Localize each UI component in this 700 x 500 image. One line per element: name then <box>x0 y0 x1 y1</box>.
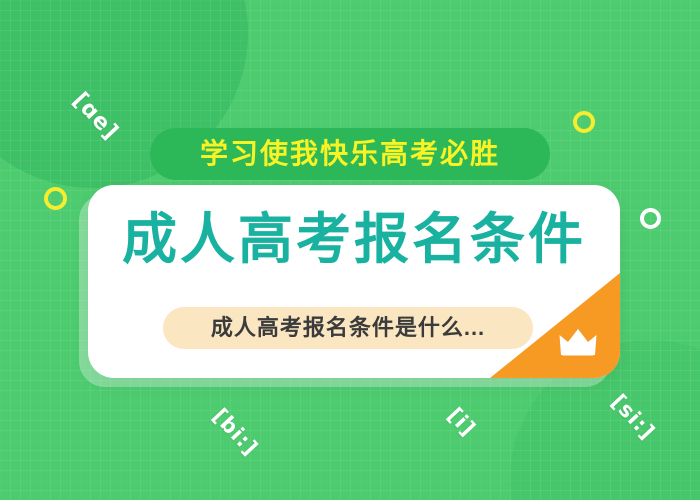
decorative-ring-white-right <box>640 208 661 229</box>
slogan-banner-text: 学习使我快乐高考必胜 <box>200 140 500 168</box>
decorative-ring-yellow-left <box>44 187 67 210</box>
page-title: 成人高考报名条件 <box>88 212 620 267</box>
subtitle-badge-text: 成人高考报名条件是什么... <box>211 317 485 339</box>
poster-canvas: [ɑe] [bi:] [i] [si:] 学习使我快乐高考必胜 成人高考报名条件… <box>0 0 700 500</box>
subtitle-badge: 成人高考报名条件是什么... <box>163 307 533 349</box>
slogan-banner: 学习使我快乐高考必胜 <box>150 128 550 180</box>
decorative-ring-yellow-top <box>573 111 595 133</box>
crown-icon <box>558 326 598 358</box>
main-content-card: 成人高考报名条件 成人高考报名条件是什么... <box>88 185 620 378</box>
decorative-phonetic-bi: [bi:] <box>208 404 263 460</box>
decorative-phonetic-i: [i] <box>443 403 481 441</box>
